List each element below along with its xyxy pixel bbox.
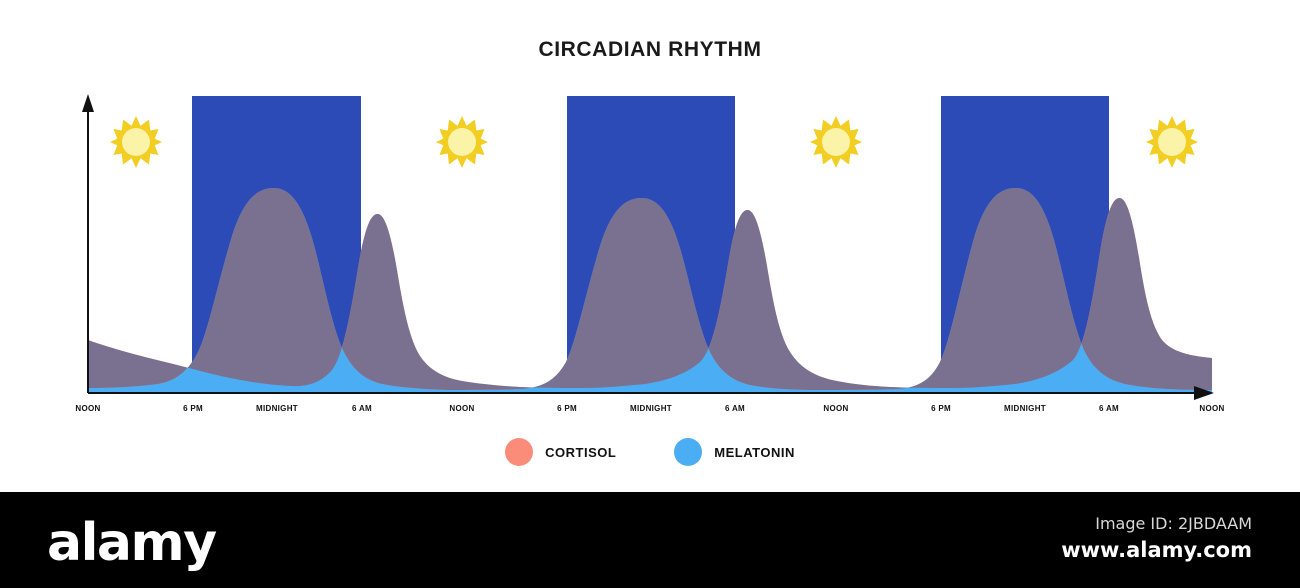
x-tick-label-midnight-2: MIDNIGHT [630,404,672,413]
x-tick-label-6pm-1: 6 PM [183,404,203,413]
x-tick-label-midnight-3: MIDNIGHT [1004,404,1046,413]
x-tick-label-noon-2: NOON [449,404,474,413]
curve-overlap-group [88,188,1212,393]
x-tick-label-noon-1: NOON [75,404,100,413]
cortisol-swatch-icon [505,438,533,466]
chart-plot-area: NOON 6 PM MIDNIGHT 6 AM NOON 6 PM MIDNIG… [0,0,1300,480]
x-tick-label-6pm-2: 6 PM [557,404,577,413]
curve-overlap-region [88,188,1212,393]
x-tick-label-6pm-3: 6 PM [931,404,951,413]
legend-label-cortisol: CORTISOL [545,445,616,460]
melatonin-swatch-icon [674,438,702,466]
sun-icon [1146,116,1198,168]
x-tick-label-noon-4: NOON [1199,404,1224,413]
sun-icon [436,116,488,168]
legend-item-melatonin[interactable]: MELATONIN [674,438,795,466]
sun-icon [810,116,862,168]
watermark-bar: alamy Image ID: 2JBDAAM www.alamy.com [0,492,1300,588]
sun-icon [110,116,162,168]
x-tick-label-6am-2: 6 AM [725,404,745,413]
x-tick-label-6am-3: 6 AM [1099,404,1119,413]
x-tick-label-6am-1: 6 AM [352,404,372,413]
alamy-logo: alamy [47,513,216,573]
alamy-url-text[interactable]: www.alamy.com [1061,538,1252,562]
x-tick-label-midnight-1: MIDNIGHT [256,404,298,413]
legend-item-cortisol[interactable]: CORTISOL [505,438,616,466]
image-id-text: Image ID: 2JBDAAM [1095,514,1252,533]
legend-label-melatonin: MELATONIN [714,445,795,460]
x-tick-label-noon-3: NOON [823,404,848,413]
chart-legend: CORTISOL MELATONIN [0,438,1300,466]
up-arrow-icon [82,94,94,112]
circadian-rhythm-infographic: CIRCADIAN RHYTHM [0,0,1300,588]
